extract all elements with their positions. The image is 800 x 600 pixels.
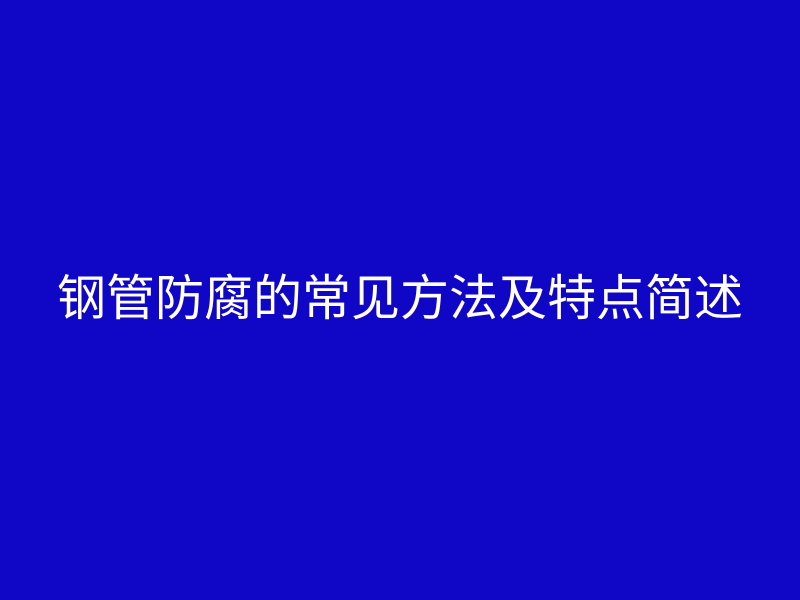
slide-title: 钢管防腐的常见方法及特点简述 — [57, 274, 743, 323]
headline-block: 钢管防腐的常见方法及特点简述 — [0, 262, 800, 334]
slide-canvas: 钢管防腐的常见方法及特点简述 — [0, 0, 800, 600]
